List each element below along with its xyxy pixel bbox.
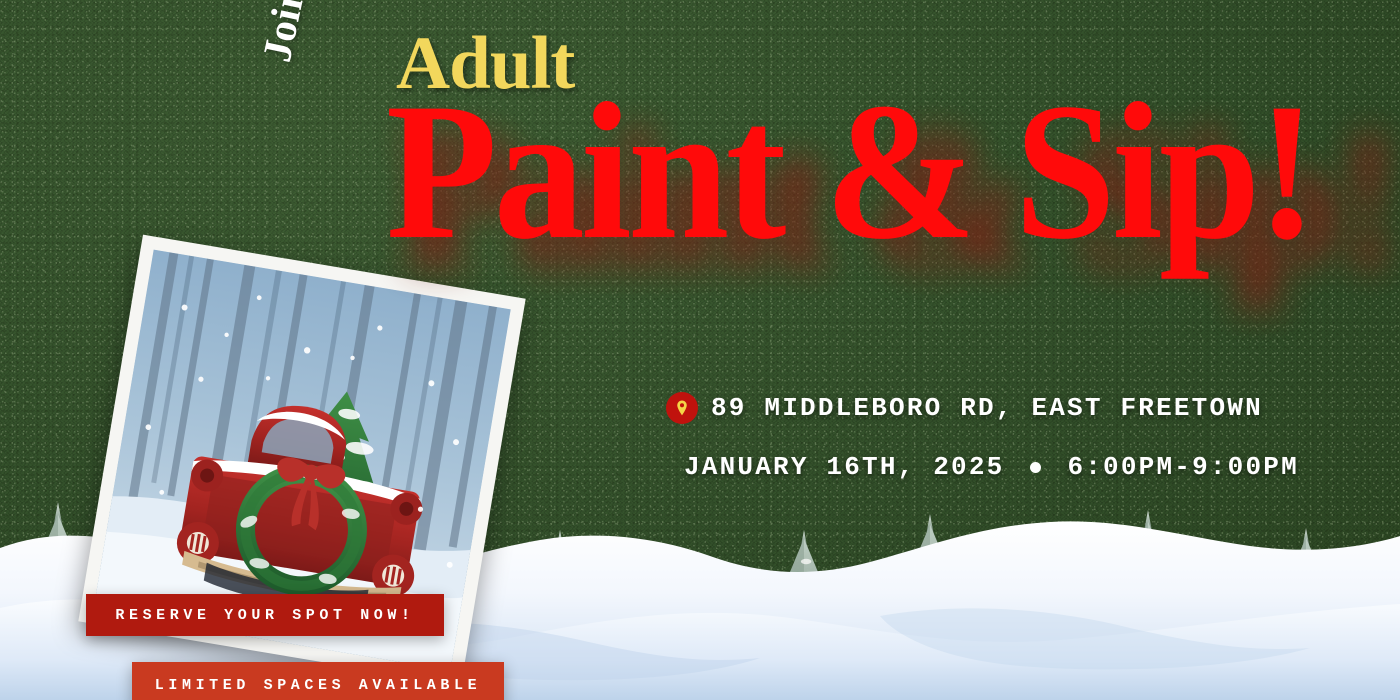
event-poster: Join Our FREE Adult Paint & Sip! Paint &… bbox=[0, 0, 1400, 700]
address-text: 89 MIDDLEBORO RD, EAST FREETOWN bbox=[711, 393, 1263, 423]
location-pin-icon bbox=[666, 392, 698, 424]
address-row: 89 MIDDLEBORO RD, EAST FREETOWN bbox=[666, 392, 1299, 424]
date-time-row: JANUARY 16TH, 2025 6:00PM-9:00PM bbox=[684, 452, 1299, 482]
reserve-spot-button[interactable]: RESERVE YOUR SPOT NOW! bbox=[86, 594, 444, 636]
time-text: 6:00PM-9:00PM bbox=[1067, 452, 1298, 482]
separator-dot bbox=[1030, 462, 1041, 473]
event-details: 89 MIDDLEBORO RD, EAST FREETOWN JANUARY … bbox=[666, 392, 1299, 482]
main-title: Paint & Sip! Paint & Sip! bbox=[386, 92, 1383, 253]
limited-spaces-banner: LIMITED SPACES AVAILABLE bbox=[132, 662, 504, 700]
date-text: JANUARY 16TH, 2025 bbox=[684, 452, 1004, 482]
title-text: Paint & Sip! bbox=[386, 92, 1314, 253]
